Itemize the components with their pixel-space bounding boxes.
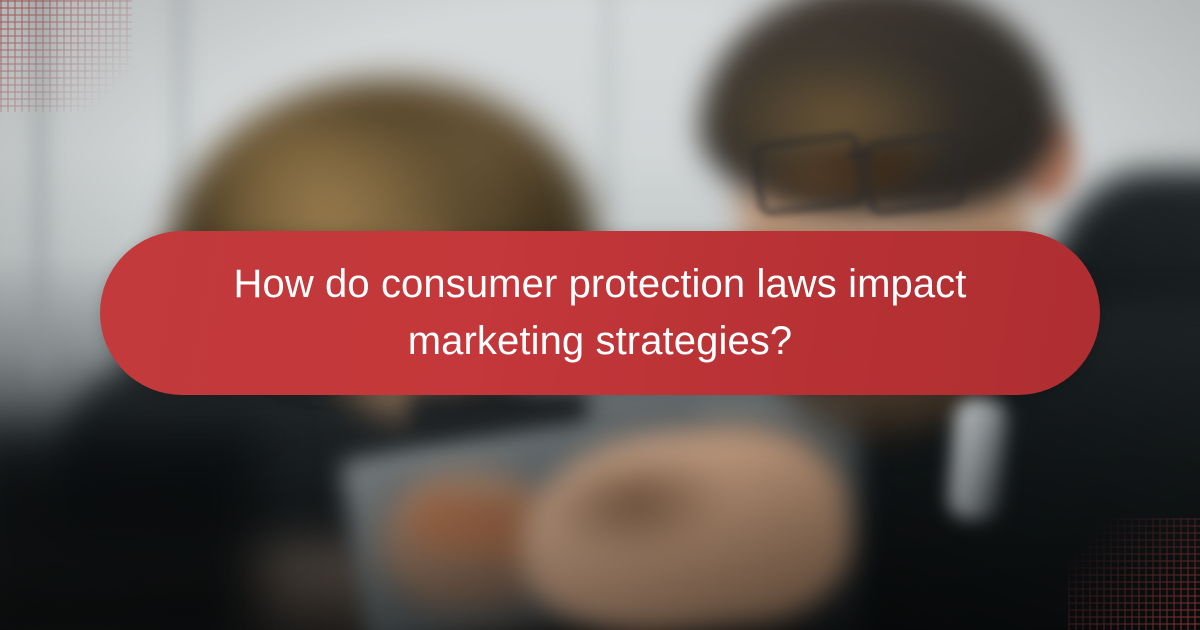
question-banner: How do consumer protection laws impact m… <box>100 231 1100 395</box>
headline-text: How do consumer protection laws impact m… <box>180 256 1020 370</box>
screenshot-canvas: How do consumer protection laws impact m… <box>0 0 1200 630</box>
